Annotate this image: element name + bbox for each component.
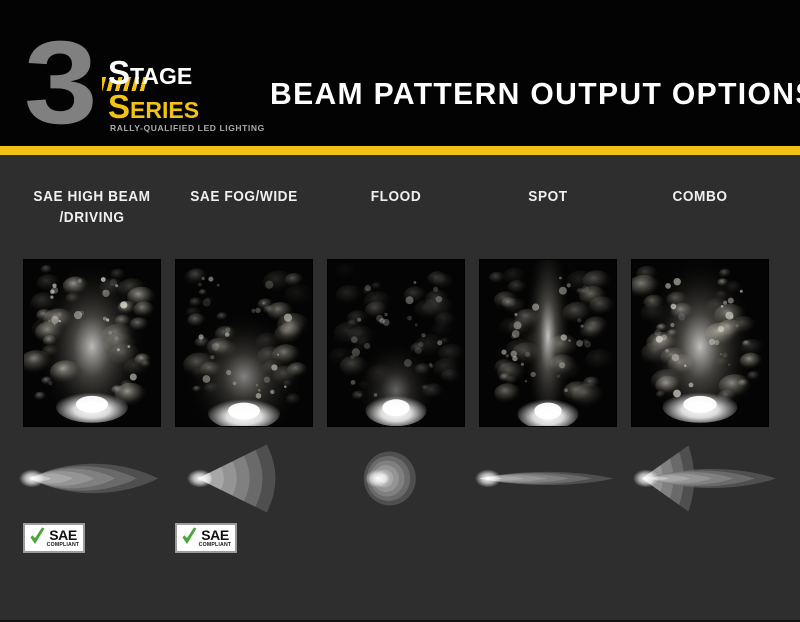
beam-label-line1: SAE HIGH BEAM — [33, 189, 150, 205]
badge-text: SAECOMPLIANT — [199, 528, 232, 548]
beam-column-sae-high-beam-driving: SAE HIGH BEAM/DRIVING — [16, 155, 168, 620]
beam-pattern-poster: 3 STAGE SERIES RALLY-QUALIFIED LED LIGHT… — [0, 0, 800, 622]
beam-column-combo: COMBO — [624, 155, 776, 620]
beam-column-flood: FLOOD — [320, 155, 472, 620]
logo-stage-rest: TAGE — [130, 63, 192, 89]
beam-diagram-sae-fog-wide — [168, 441, 320, 513]
logo-stage-capital: S — [108, 54, 130, 91]
beam-diagram-combo — [624, 441, 776, 513]
beam-photo-flood — [327, 259, 465, 427]
beam-label-spot: SPOT — [477, 187, 620, 208]
badge-line2: COMPLIANT — [47, 543, 80, 548]
beam-label-line2: /DRIVING — [59, 210, 124, 226]
beam-label-flood: FLOOD — [325, 187, 468, 208]
logo-series-capital: S — [108, 88, 130, 125]
beam-photo-combo — [631, 259, 769, 427]
beam-pattern-grid: SAE HIGH BEAM/DRIVING — [0, 155, 800, 620]
logo-series-rest: ERIES — [130, 97, 199, 123]
badge-line2: COMPLIANT — [199, 543, 232, 548]
check-icon — [181, 527, 198, 549]
logo-tagline: RALLY-QUALIFIED LED LIGHTING — [110, 123, 265, 133]
beam-label-sae-high-beam-driving: SAE HIGH BEAM/DRIVING — [21, 187, 164, 229]
beam-column-sae-fog-wide: SAE FOG/WIDE — [168, 155, 320, 620]
badge-line1: SAE — [49, 528, 77, 542]
accent-divider — [0, 146, 800, 155]
beam-label-sae-fog-wide: SAE FOG/WIDE — [173, 187, 316, 208]
beam-diagram-sae-high-beam-driving — [16, 441, 168, 513]
poster-header: 3 STAGE SERIES RALLY-QUALIFIED LED LIGHT… — [0, 0, 800, 146]
beam-label-line1: FLOOD — [371, 189, 422, 205]
beam-label-line1: COMBO — [672, 189, 727, 205]
beam-photo-sae-fog-wide — [175, 259, 313, 427]
beam-diagram-spot — [472, 441, 624, 513]
badge-text: SAECOMPLIANT — [47, 528, 80, 548]
beam-photo-sae-high-beam-driving — [23, 259, 161, 427]
beam-photo-spot — [479, 259, 617, 427]
badge-line1: SAE — [201, 528, 229, 542]
logo-numeral-3: 3 — [24, 24, 91, 142]
page-title: BEAM PATTERN OUTPUT OPTIONS — [270, 76, 800, 112]
beam-column-spot: SPOT — [472, 155, 624, 620]
logo-word-series: SERIES — [108, 90, 199, 123]
beam-label-combo: COMBO — [629, 187, 772, 208]
sae-compliant-badge-sae-high-beam-driving: SAECOMPLIANT — [23, 523, 85, 553]
beam-label-line1: SAE FOG/WIDE — [190, 189, 297, 205]
sae-compliant-badge-sae-fog-wide: SAECOMPLIANT — [175, 523, 237, 553]
stage-series-logo: 3 STAGE SERIES RALLY-QUALIFIED LED LIGHT… — [24, 28, 240, 132]
beam-diagram-flood — [320, 441, 472, 513]
beam-label-line1: SPOT — [528, 189, 567, 205]
check-icon — [29, 527, 46, 549]
logo-word-stage: STAGE — [108, 56, 192, 89]
